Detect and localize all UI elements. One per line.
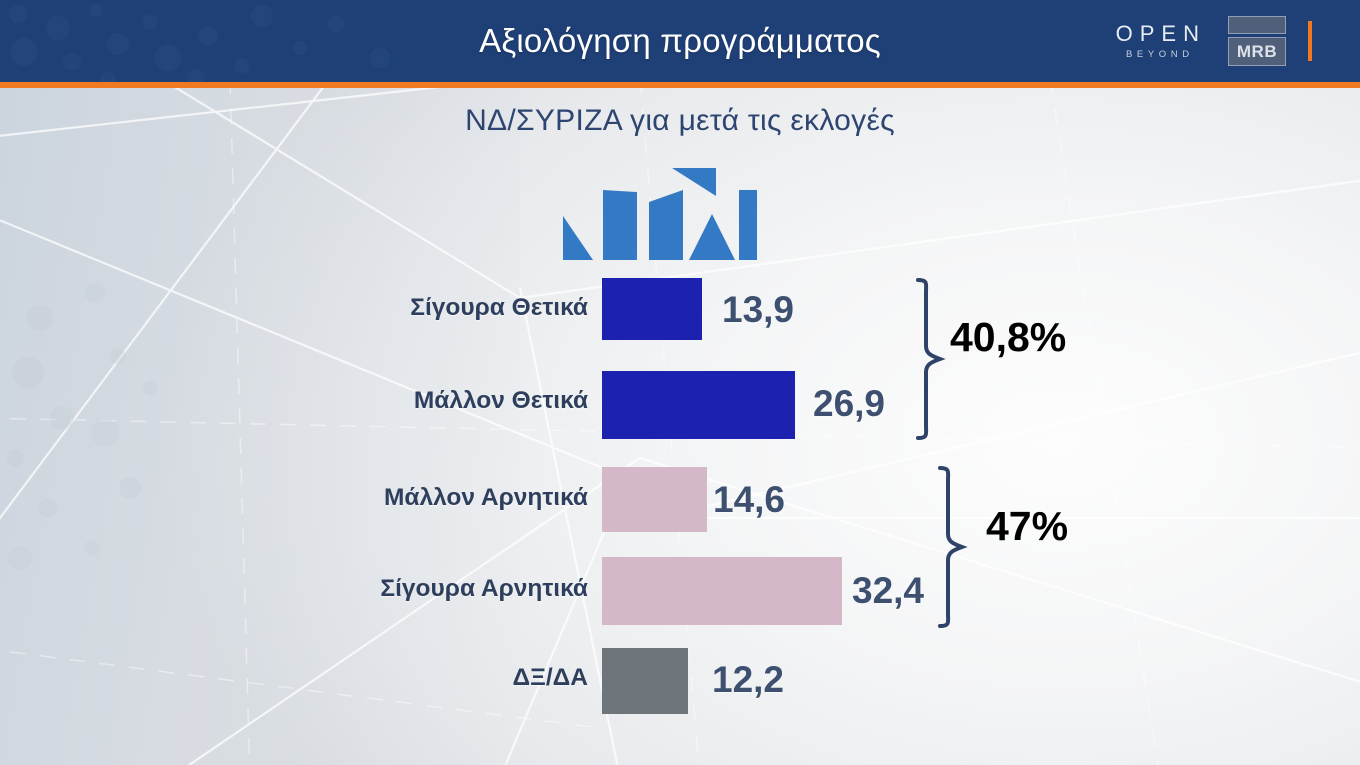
group-total-positive: 40,8% <box>950 314 1066 361</box>
bar-value: 14,6 <box>713 479 785 521</box>
bar-label: Σίγουρα Θετικά <box>410 294 588 322</box>
bar-rect <box>602 557 842 625</box>
poll-graphic-screen: Αξιολόγηση προγράμματος OPEN BEYOND MRB … <box>0 0 1360 765</box>
group-brace-negative <box>934 466 968 628</box>
bar-label: Σίγουρα Αρνητικά <box>380 575 588 603</box>
bar-label: ΔΞ/ΔΑ <box>513 664 589 692</box>
bar-rect <box>602 467 707 532</box>
bar-value: 13,9 <box>722 289 794 331</box>
bar-value: 32,4 <box>852 570 924 612</box>
bar-chart: Σίγουρα Θετικά 13,9 Μάλλον Θετικά 26,9 Μ… <box>0 0 1360 765</box>
bar-rect <box>602 648 688 714</box>
bar-rect <box>602 371 795 439</box>
bar-value: 12,2 <box>712 659 784 701</box>
bar-label: Μάλλον Αρνητικά <box>384 484 588 512</box>
bar-value: 26,9 <box>813 383 885 425</box>
bar-label: Μάλλον Θετικά <box>414 387 588 415</box>
group-total-negative: 47% <box>986 503 1068 550</box>
bar-rect <box>602 278 702 340</box>
group-brace-positive <box>912 278 946 440</box>
